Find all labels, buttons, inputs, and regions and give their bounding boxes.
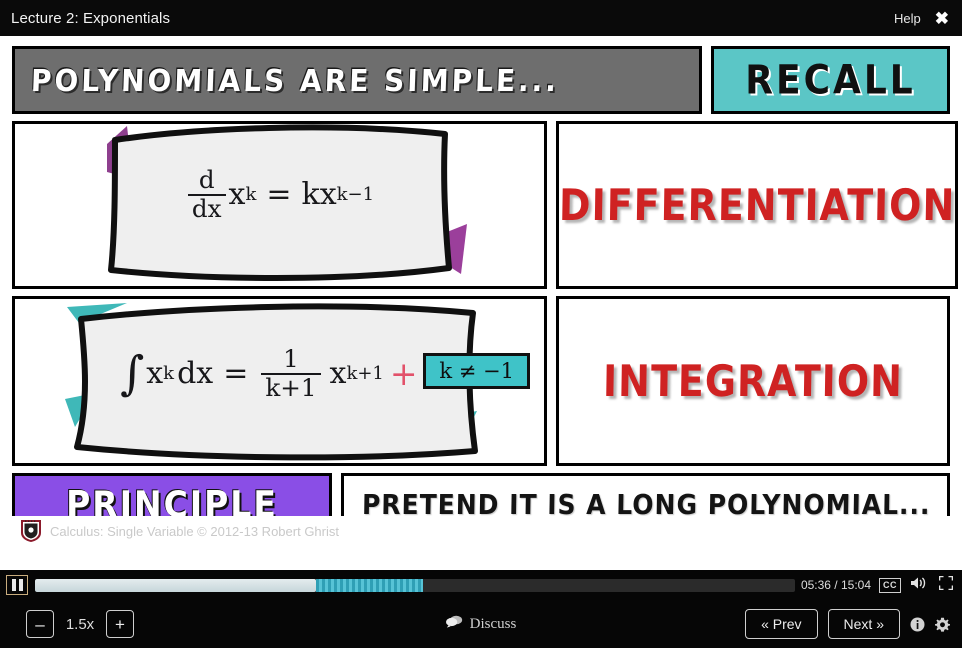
speed-value: 1.5x (63, 616, 97, 633)
integration-label-cell: INTEGRATION (556, 296, 950, 466)
playback-speed-group: – 1.5x + (26, 610, 134, 638)
info-icon[interactable] (910, 617, 925, 632)
integration-formula-cell: ∫ xk dx = 1 k+1 xk+1 + C k ≠ −1 (12, 296, 547, 466)
player-controls-bar: 05:36 / 15:04 CC – (0, 570, 962, 648)
video-lecture-player: Lecture 2: Exponentials Help ✖ POLYNOMIA… (0, 0, 962, 648)
discuss-button[interactable]: Discuss (446, 615, 517, 633)
attribution: Calculus: Single Variable © 2012-13 Robe… (12, 516, 962, 546)
progress-row: 05:36 / 15:04 CC (0, 570, 962, 600)
prev-button[interactable]: « Prev (745, 609, 817, 639)
close-icon[interactable]: ✖ (935, 10, 949, 27)
slide-header-row: POLYNOMIALS ARE SIMPLE... RECALL (12, 46, 950, 114)
differentiation-formula-cell: d dx xk = k xk−1 (12, 121, 547, 289)
captions-button[interactable]: CC (879, 578, 901, 593)
window-title-bar: Lecture 2: Exponentials Help ✖ (0, 0, 962, 36)
discuss-label: Discuss (470, 616, 517, 633)
lecture-slide: POLYNOMIALS ARE SIMPLE... RECALL (12, 46, 950, 546)
attribution-text: Calculus: Single Variable © 2012-13 Robe… (50, 524, 339, 539)
header-banner: POLYNOMIALS ARE SIMPLE... (12, 46, 702, 114)
pause-button[interactable] (6, 575, 28, 595)
time-display: 05:36 / 15:04 (801, 578, 871, 592)
differentiation-label: DIFFERENTIATION (559, 180, 956, 230)
integration-condition-box: k ≠ −1 (423, 353, 530, 389)
fullscreen-icon[interactable] (939, 576, 953, 595)
page-title: Lecture 2: Exponentials (11, 10, 170, 27)
recall-tag-text: RECALL (745, 57, 915, 103)
speed-increase-button[interactable]: + (106, 610, 134, 638)
differentiation-label-cell: DIFFERENTIATION (556, 121, 958, 289)
help-link[interactable]: Help (894, 11, 921, 26)
header-banner-text: POLYNOMIALS ARE SIMPLE... (30, 62, 559, 98)
chat-bubble-icon (446, 615, 463, 633)
recall-tag: RECALL (711, 46, 950, 114)
progress-played (35, 579, 316, 592)
scroll-ribbon-graphic (15, 124, 544, 286)
titlebar-actions: Help ✖ (894, 10, 949, 27)
integration-label: INTEGRATION (603, 356, 904, 406)
speed-decrease-button[interactable]: – (26, 610, 54, 638)
slide-navigation: « Prev Next » (745, 609, 950, 639)
integration-row: ∫ xk dx = 1 k+1 xk+1 + C k ≠ −1 (12, 296, 950, 466)
differentiation-row: d dx xk = k xk−1 DIFFERENTIATION (12, 121, 950, 289)
penn-shield-logo (20, 519, 42, 543)
progress-buffered (316, 579, 422, 592)
slide-stage: POLYNOMIALS ARE SIMPLE... RECALL (0, 36, 962, 570)
controls-row: – 1.5x + Discuss « Prev Next » (0, 600, 962, 648)
next-button[interactable]: Next » (828, 609, 900, 639)
seek-bar[interactable] (35, 579, 795, 592)
volume-icon[interactable] (910, 576, 927, 595)
settings-gear-icon[interactable] (935, 617, 950, 632)
